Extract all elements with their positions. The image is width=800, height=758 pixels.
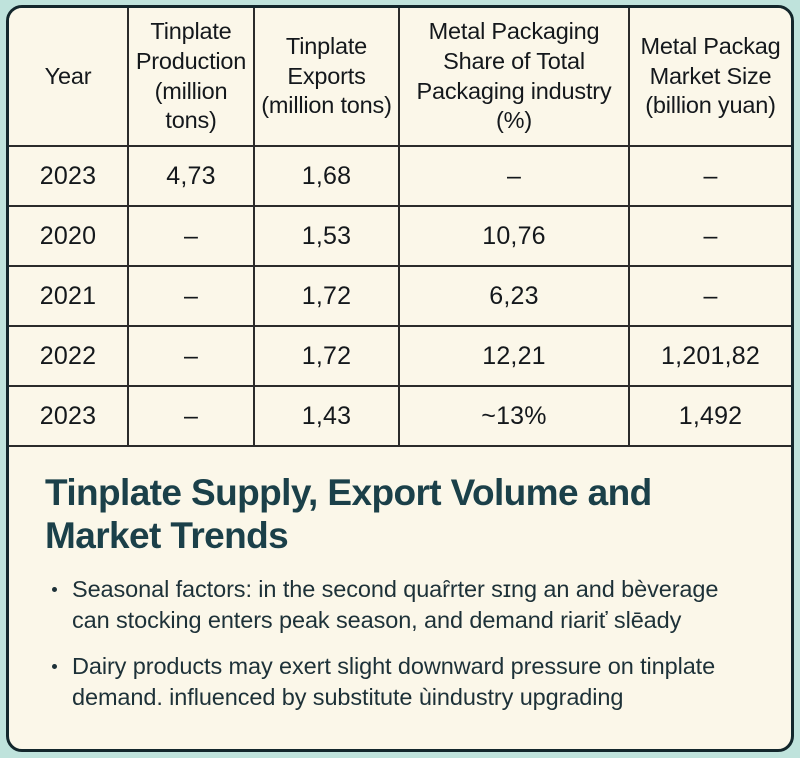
list-item: Dairy products may exert slight downward… [45,651,761,714]
header-line: Share of Total [443,48,585,74]
column-header-year: Year [9,8,128,146]
cell-market-size: 1,201,82 [629,326,791,386]
table-row: 2022 – 1,72 12,21 1,201,82 [9,326,791,386]
cell-year: 2021 [9,266,128,326]
cell-production: – [128,326,254,386]
summary-bullet-list: Seasonal factors: in the second quaȓrter… [45,574,761,714]
table-row: 2021 – 1,72 6,23 – [9,266,791,326]
cell-share: 12,21 [399,326,629,386]
header-line: Year [45,63,92,89]
cell-year: 2023 [9,386,128,446]
cell-year: 2022 [9,326,128,386]
header-line: (million tons) [261,92,391,118]
infographic-card: Year Tinplate Production (million tons) … [6,5,794,752]
cell-production: – [128,266,254,326]
column-header-metal-packaging-market-size: Metal Packag Market Size (billion yuan) [629,8,791,146]
table-body: 2023 4,73 1,68 – – 2020 – 1,53 10,76 – 2… [9,146,791,446]
cell-year: 2023 [9,146,128,206]
column-header-metal-packaging-share: Metal Packaging Share of Total Packaging… [399,8,629,146]
table-row: 2023 4,73 1,68 – – [9,146,791,206]
cell-exports: 1,72 [254,326,399,386]
column-header-tinplate-production: Tinplate Production (million tons) [128,8,254,146]
cell-share: 6,23 [399,266,629,326]
table-row: 2020 – 1,53 10,76 – [9,206,791,266]
cell-market-size: – [629,206,791,266]
table-row: 2023 – 1,43 ~13% 1,492 [9,386,791,446]
cell-production: – [128,206,254,266]
column-header-tinplate-exports: Tinplate Exports (million tons) [254,8,399,146]
cell-production: 4,73 [128,146,254,206]
header-line: (million tons) [155,78,228,134]
header-line: Packaging industry [417,78,612,104]
cell-market-size: 1,492 [629,386,791,446]
header-line: (billion yuan) [645,92,775,118]
header-line: Market Size [650,63,772,89]
table-header: Year Tinplate Production (million tons) … [9,8,791,146]
header-line: Metal Packag [641,33,781,59]
header-line: Metal Packaging [429,18,600,44]
header-line: Tinplate [150,18,231,44]
header-line: Tinplate [286,33,367,59]
cell-market-size: – [629,266,791,326]
cell-exports: 1,68 [254,146,399,206]
cell-exports: 1,53 [254,206,399,266]
cell-market-size: – [629,146,791,206]
tinplate-data-table: Year Tinplate Production (million tons) … [9,8,791,447]
list-item: Seasonal factors: in the second quaȓrter… [45,574,761,637]
cell-exports: 1,43 [254,386,399,446]
cell-share: ~13% [399,386,629,446]
page-title: Tinplate Supply, Export Volume and Marke… [45,471,761,558]
cell-production: – [128,386,254,446]
summary-section: Tinplate Supply, Export Volume and Marke… [9,447,791,714]
cell-share: 10,76 [399,206,629,266]
cell-year: 2020 [9,206,128,266]
header-line: (%) [496,107,532,133]
cell-share: – [399,146,629,206]
cell-exports: 1,72 [254,266,399,326]
header-line: Production [136,48,246,74]
header-line: Exports [287,63,365,89]
table-header-row: Year Tinplate Production (million tons) … [9,8,791,146]
